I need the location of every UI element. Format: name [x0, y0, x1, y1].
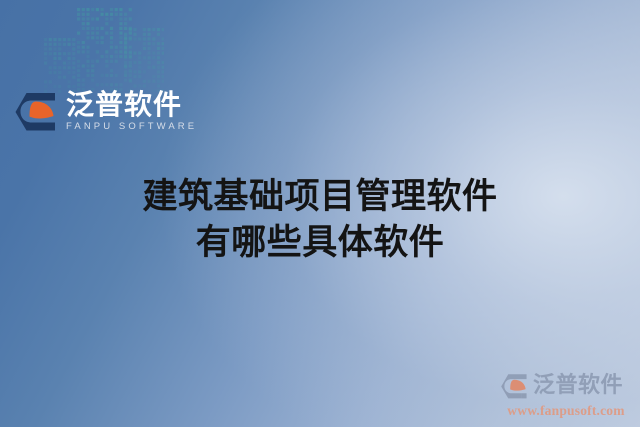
fanpu-logo: 泛普软件 FANPU SOFTWARE: [14, 88, 197, 136]
watermark-name-cn: 泛普软件: [533, 375, 623, 397]
promo-banner: 泛普软件 FANPU SOFTWARE 建筑基础项目管理软件 有哪些具体软件 泛…: [0, 0, 640, 427]
logo-name-en: FANPU SOFTWARE: [66, 121, 197, 133]
page-title-line-1: 建筑基础项目管理软件: [0, 174, 640, 220]
logo-name-cn: 泛普软件: [66, 91, 197, 120]
watermark-logo-row: 泛普软件: [500, 371, 632, 401]
watermark-logo-mark-icon: [500, 373, 530, 400]
page-title: 建筑基础项目管理软件 有哪些具体软件: [0, 174, 640, 266]
watermark-url: www.fanpusoft.com: [500, 403, 632, 419]
pixel-cityscape-icon: [44, 0, 164, 96]
watermark: 泛普软件 www.fanpusoft.com: [500, 371, 632, 419]
fanpu-logo-mark-icon: [14, 91, 60, 133]
page-title-line-2: 有哪些具体软件: [0, 220, 640, 266]
